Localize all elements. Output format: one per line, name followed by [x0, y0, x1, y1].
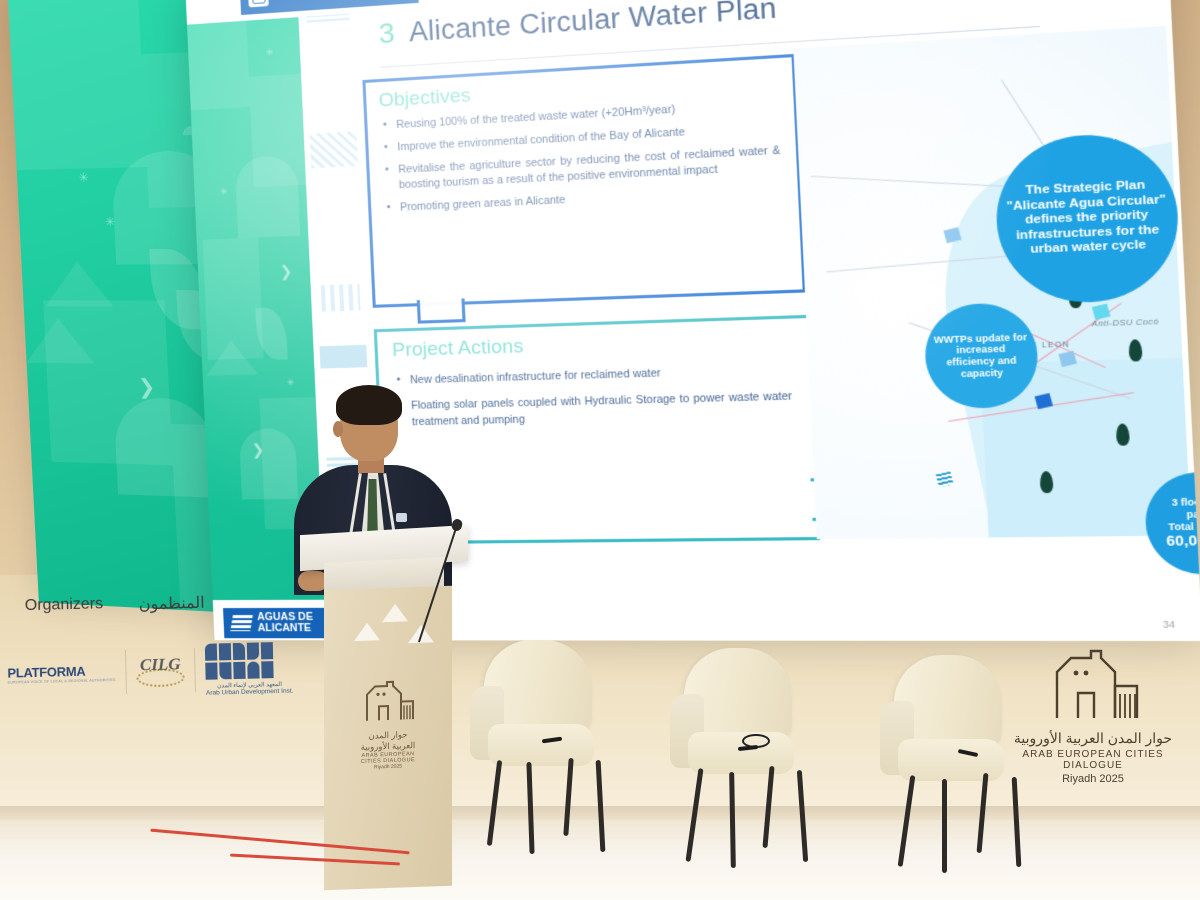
- cilg-logo: CILG: [136, 654, 185, 687]
- podium-event-logo: حوار المدن العربية الأوروبية ARAB EUROPE…: [356, 679, 420, 771]
- slide-section-number: 3: [378, 17, 395, 51]
- stage-chair: [470, 640, 630, 855]
- parks-line1: 3 floodable: [1164, 496, 1200, 509]
- objectives-callout-tail: [417, 298, 466, 323]
- audi-mosaic-icon: [205, 641, 293, 679]
- logo-divider: [125, 650, 127, 694]
- parks-volume-value: 60,000 m³: [1166, 532, 1200, 550]
- slide-page-number: 34: [1163, 619, 1176, 630]
- lapel-pin: [396, 513, 407, 522]
- map-label-anti-dsu-coco: Anti-DSU Cocó: [1091, 317, 1159, 329]
- slide-heading: Alicante Circular Water Plan: [408, 0, 777, 48]
- project-action-bullet: New desalination infrastructure for recl…: [410, 361, 791, 388]
- ayuntamiento-alicante-logo: AYUNTAMIENTO DE ALICANTE: [239, 0, 418, 15]
- cilg-name: CILG: [136, 654, 184, 675]
- objectives-box: Objectives Reusing 100% of the treated w…: [362, 54, 806, 308]
- arab-urban-development-institute-logo: المعهد العربي لإنماء المدن Arab Urban De…: [205, 641, 294, 696]
- city-seal-icon: [248, 0, 269, 7]
- parks-line2: parks: [1165, 508, 1200, 521]
- lectern: حوار المدن العربية الأوروبية ARAB EUROPE…: [300, 530, 468, 890]
- project-action-bullet: Floating solar panels coupled with Hydra…: [411, 388, 793, 430]
- platforma-arc-icon: [0, 661, 5, 690]
- conference-stage-photo: ❯ ❯ ✳ ✳ ✳ ✳ ❯ ❯ ✳ ✳ ✳: [0, 0, 1200, 900]
- ayuntamiento-line2: DE ALICANTE: [274, 0, 334, 3]
- platforma-logo: PLATFORMA EUROPEAN VOICE OF LOCAL & REGI…: [0, 658, 116, 689]
- project-actions-heading: Project Actions: [392, 327, 808, 363]
- parks-line3: Total volume: [1165, 520, 1200, 533]
- organizers-title-en: Organizers: [25, 595, 104, 615]
- podium-logo-arabic: حوار المدن العربية الأوروبية: [356, 729, 420, 753]
- audi-name-english: Arab Urban Development Inst.: [206, 687, 294, 696]
- objectives-bullet-list: Reusing 100% of the treated waste water …: [367, 96, 798, 218]
- stage-chair: [880, 655, 1040, 870]
- arab-cities-dialogue-mark-icon: [361, 679, 415, 723]
- logo-divider: [194, 648, 196, 692]
- stage-chair: [670, 648, 830, 863]
- arab-cities-dialogue-mark-icon: [1047, 648, 1139, 722]
- organizers-title-ar: المنظمون: [139, 593, 205, 615]
- organizers-board: Organizers المنظمون PLATFORMA EUROPEAN V…: [0, 584, 322, 722]
